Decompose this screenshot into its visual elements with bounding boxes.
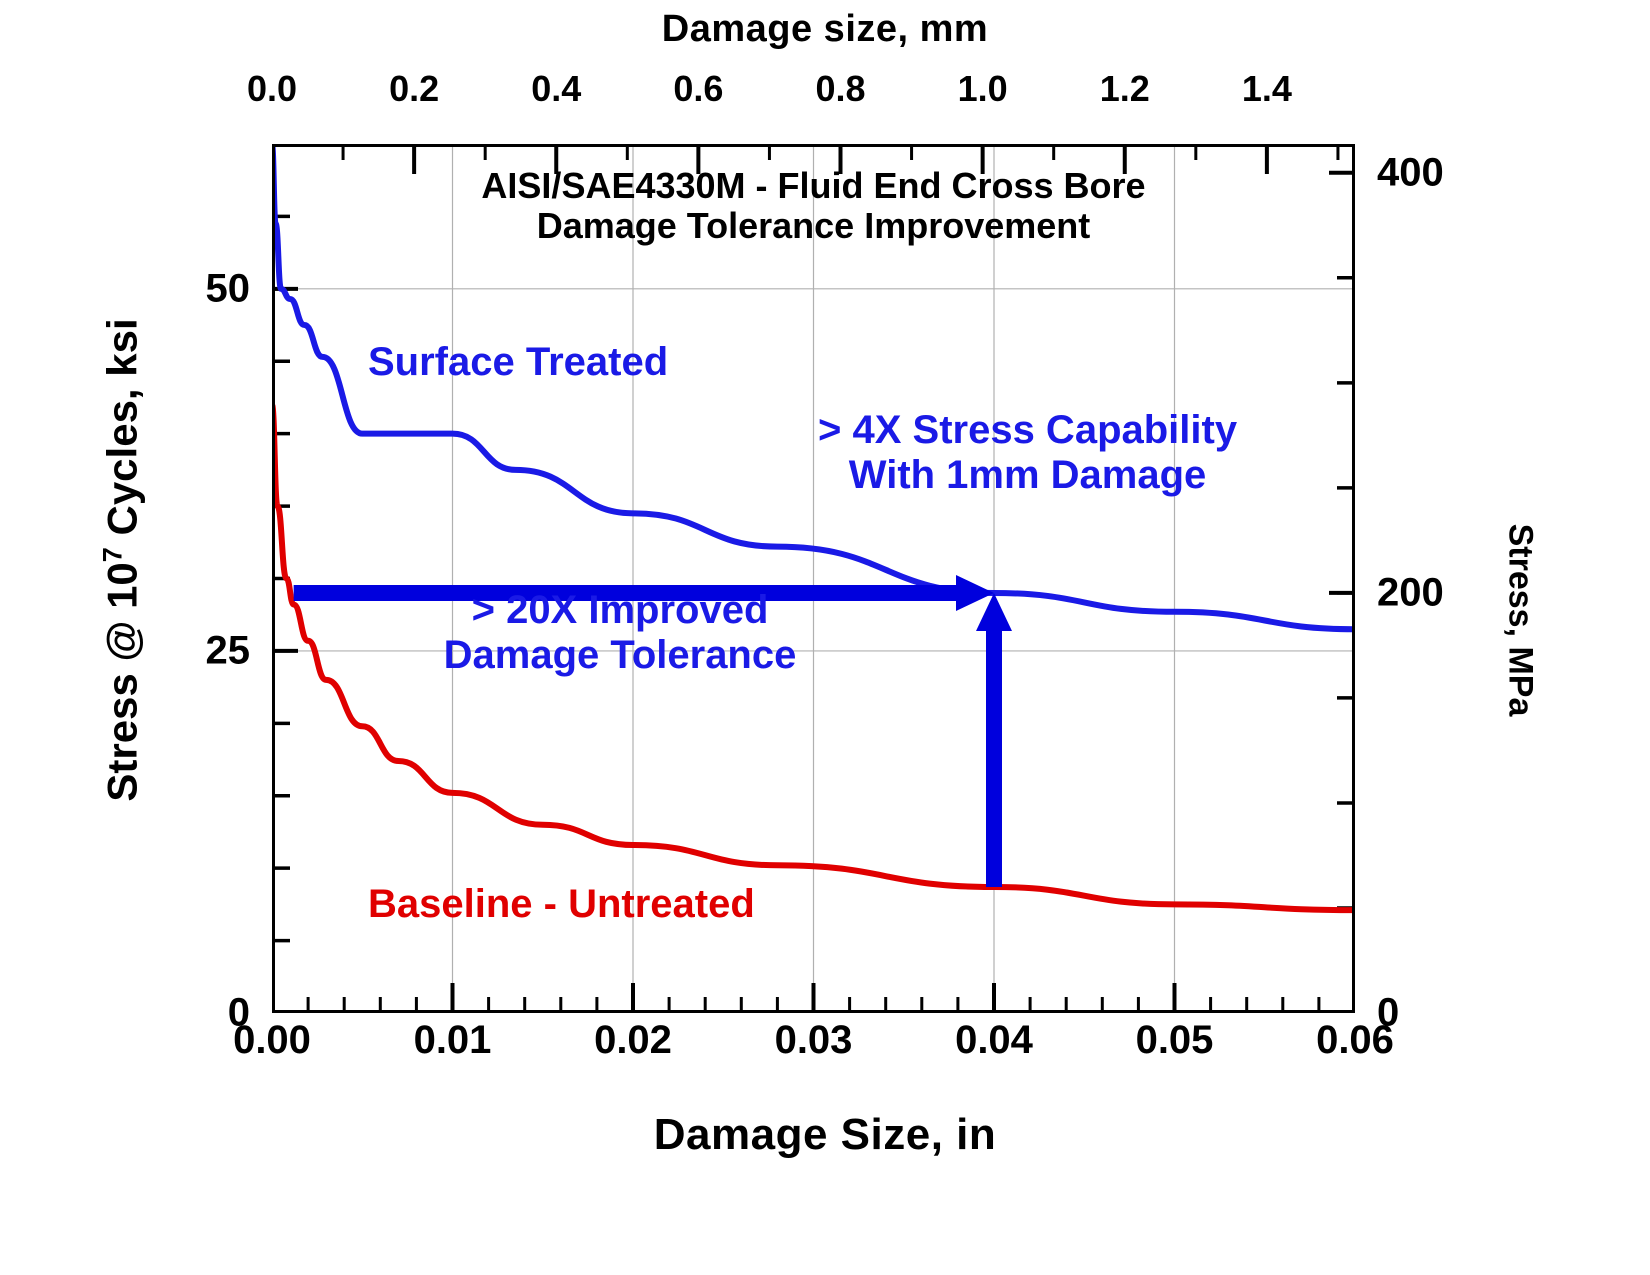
bottom-tick-label: 0.03: [775, 1018, 853, 1063]
top-tick-label: 1.4: [1242, 68, 1292, 110]
top-tick-label: 0.0: [247, 68, 297, 110]
chart-title: AISI/SAE4330M - Fluid End Cross Bore Dam…: [272, 166, 1355, 247]
bottom-tick-label: 0.04: [955, 1018, 1033, 1063]
left-axis-title-post: Cycles, ksi: [99, 318, 146, 547]
annotation-stress-capability: > 4X Stress Capability With 1mm Damage: [818, 408, 1237, 498]
annotation-damage-tolerance: > 20X Improved Damage Tolerance: [425, 588, 815, 678]
chart-title-line-2: Damage Tolerance Improvement: [272, 206, 1355, 246]
left-tick-label: 50: [206, 266, 251, 311]
chart-canvas: Damage size, mm 0.00.20.40.60.81.01.21.4…: [0, 0, 1650, 1275]
series-label-baseline-untreated: Baseline - Untreated: [368, 882, 755, 927]
top-tick-label: 1.2: [1100, 68, 1150, 110]
top-tick-label: 1.0: [958, 68, 1008, 110]
right-axis-title: Stress, MPa: [1501, 524, 1540, 717]
vertical-arrow: [976, 593, 1012, 887]
top-axis-title: Damage size, mm: [0, 8, 1650, 51]
left-axis-title-exponent: 7: [98, 547, 128, 562]
top-tick-label: 0.2: [389, 68, 439, 110]
right-tick-label: 400: [1377, 150, 1444, 195]
top-tick-label: 0.6: [673, 68, 723, 110]
bottom-axis-title: Damage Size, in: [0, 1110, 1650, 1160]
left-axis-title: Stress @ 107 Cycles, ksi: [98, 318, 147, 801]
bottom-tick-label: 0.02: [594, 1018, 672, 1063]
right-tick-label: 0: [1377, 991, 1399, 1036]
annotation-stress-capability-line-2: With 1mm Damage: [818, 453, 1237, 498]
left-tick-label: 0: [228, 991, 250, 1036]
bottom-tick-label: 0.05: [1136, 1018, 1214, 1063]
top-tick-label: 0.8: [815, 68, 865, 110]
right-tick-label: 200: [1377, 570, 1444, 615]
left-tick-label: 25: [206, 628, 251, 673]
top-tick-label: 0.4: [531, 68, 581, 110]
left-axis-title-pre: Stress @ 10: [99, 562, 146, 801]
annotation-damage-tolerance-line-2: Damage Tolerance: [425, 633, 815, 678]
annotation-damage-tolerance-line-1: > 20X Improved: [425, 588, 815, 633]
bottom-tick-label: 0.01: [414, 1018, 492, 1063]
chart-title-line-1: AISI/SAE4330M - Fluid End Cross Bore: [272, 166, 1355, 206]
series-label-surface-treated: Surface Treated: [368, 340, 668, 385]
annotation-stress-capability-line-1: > 4X Stress Capability: [818, 408, 1237, 453]
